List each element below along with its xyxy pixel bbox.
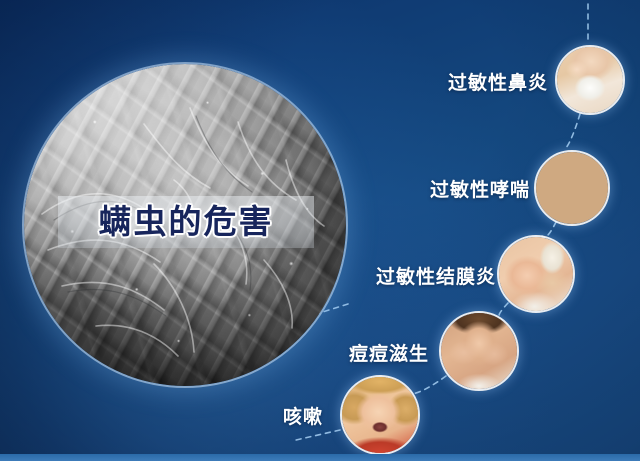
man-using-inhaler-photo <box>536 152 608 224</box>
baby-eye-wiped-photo <box>499 237 573 311</box>
woman-acne-face-photo <box>441 313 517 389</box>
acne-photo-circle[interactable] <box>439 311 519 391</box>
symptom-label-asthma: 过敏性哮喘 <box>430 175 530 202</box>
rhinitis-photo-circle[interactable] <box>555 45 625 115</box>
symptom-label-acne: 痘痘滋生 <box>349 339 429 366</box>
infographic-poster: 螨虫的危害 过敏性鼻炎 过敏性哮喘 过敏性结膜炎 痘痘滋生 咳嗽 <box>0 0 640 461</box>
conjunctivitis-photo-circle[interactable] <box>497 235 575 313</box>
page-title: 螨虫的危害 <box>58 199 314 245</box>
symptom-label-conjunctivitis: 过敏性结膜炎 <box>376 262 496 289</box>
cough-photo-circle[interactable] <box>340 375 420 455</box>
woman-sneezing-tissue-photo <box>557 47 623 113</box>
asthma-photo-circle[interactable] <box>534 150 610 226</box>
child-coughing-photo <box>342 377 418 453</box>
symptom-label-cough: 咳嗽 <box>283 402 323 429</box>
bottom-accent-strip <box>0 454 640 461</box>
symptom-label-rhinitis: 过敏性鼻炎 <box>448 68 548 95</box>
